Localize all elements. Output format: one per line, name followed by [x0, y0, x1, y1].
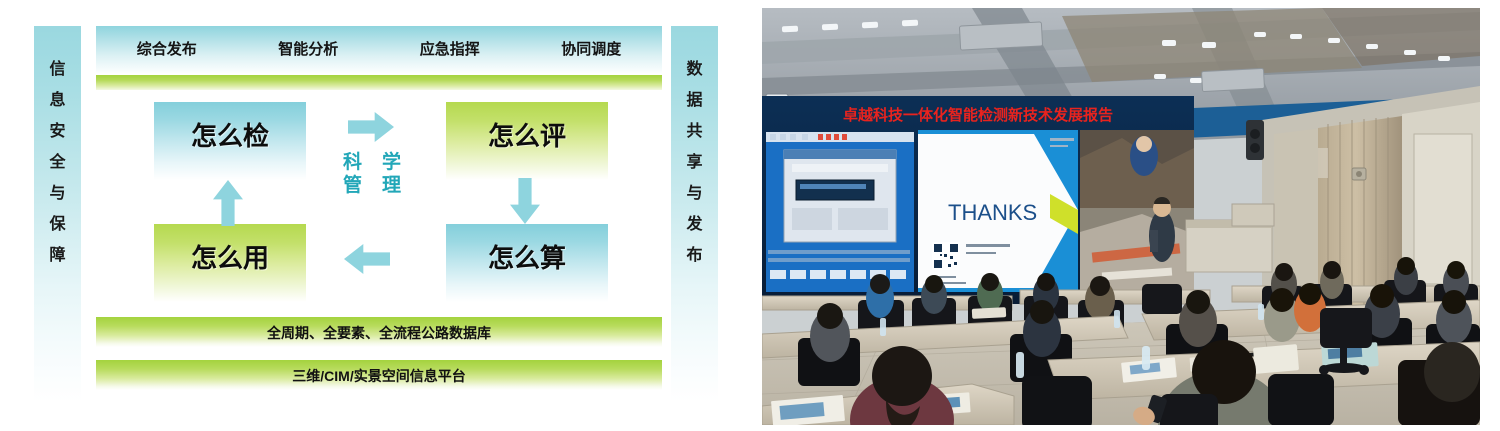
led-banner-text: 卓越科技一体化智能检测新技术发展报告 [843, 106, 1113, 124]
center-label-char-0: 科 [343, 152, 362, 174]
photo-canvas: 卓越科技一体化智能检测新技术发展报告 [762, 8, 1480, 425]
arrow-up-icon [213, 180, 243, 226]
sidebar-right-char-0: 数 [686, 62, 702, 78]
sidebar-left-information-security: 信 息 安 全 与 保 障 [34, 26, 81, 402]
process-box-how-to-use: 怎么用 [154, 224, 306, 302]
sidebar-right-char-5: 发 [686, 217, 702, 233]
framework-diagram: 信 息 安 全 与 保 障 数 据 共 享 与 发 布 [0, 0, 750, 431]
top-label-emergency-command: 应急指挥 [420, 38, 480, 59]
top-label-row: 综合发布 智能分析 应急指挥 协同调度 [96, 38, 662, 59]
sidebar-right-label: 数 据 共 享 与 发 布 [671, 62, 718, 264]
top-green-divider [96, 75, 662, 90]
center-label-char-2: 管 [343, 175, 362, 197]
process-box-how-to-inspect: 怎么检 [154, 102, 306, 180]
sidebar-left-char-4: 与 [49, 186, 65, 202]
sidebar-right-char-2: 共 [686, 124, 702, 140]
sidebar-right-char-6: 布 [686, 248, 702, 264]
sidebar-left-label: 信 息 安 全 与 保 障 [34, 62, 81, 264]
sidebar-left-char-3: 全 [49, 155, 65, 171]
sidebar-right-char-1: 据 [686, 93, 702, 109]
sidebar-left-char-2: 安 [49, 124, 65, 140]
bottom-bar-spatial-platform: 三维/CIM/实景空间信息平台 [96, 360, 662, 390]
bottom-bar-label: 三维/CIM/实景空间信息平台 [96, 366, 662, 386]
screenshot-root: 信 息 安 全 与 保 障 数 据 共 享 与 发 布 [0, 0, 1500, 431]
sidebar-right-char-4: 与 [686, 186, 702, 202]
arrow-left-icon [344, 244, 390, 274]
sidebar-left-char-5: 保 [49, 217, 65, 233]
sidebar-left-char-1: 息 [49, 93, 65, 109]
top-label-intelligent-analysis: 智能分析 [278, 38, 338, 59]
process-box-label: 怎么检 [191, 116, 269, 153]
center-label-char-3: 理 [382, 175, 401, 197]
arrow-down-icon [510, 178, 540, 224]
center-label-scientific-management: 科 学 管 理 [334, 152, 410, 197]
process-box-label: 怎么算 [488, 238, 566, 275]
sidebar-right-char-3: 享 [686, 155, 702, 171]
process-box-label: 怎么用 [191, 238, 269, 275]
center-label-char-1: 学 [382, 152, 401, 174]
bottom-bar-highway-database: 全周期、全要素、全流程公路数据库 [96, 317, 662, 347]
process-box-how-to-evaluate: 怎么评 [446, 102, 608, 180]
seminar-room-photo: 会议室技术报告现场照片 [762, 8, 1480, 425]
diagram-board: 综合发布 智能分析 应急指挥 协同调度 怎么检 怎么评 怎么用 怎么算 [96, 26, 662, 402]
top-label-collaborative-dispatch: 协同调度 [561, 38, 621, 59]
arrow-right-icon [348, 112, 394, 142]
process-box-how-to-calculate: 怎么算 [446, 224, 608, 302]
slide-thanks-text: THANKS [948, 200, 1037, 225]
bottom-bar-label: 全周期、全要素、全流程公路数据库 [96, 323, 662, 343]
process-box-label: 怎么评 [488, 116, 566, 153]
sidebar-left-char-0: 信 [49, 62, 65, 78]
sidebar-right-data-sharing: 数 据 共 享 与 发 布 [671, 26, 718, 402]
diagram-frame: 信 息 安 全 与 保 障 数 据 共 享 与 发 布 [20, 12, 732, 416]
top-label-comprehensive-release: 综合发布 [137, 38, 197, 59]
sidebar-left-char-6: 障 [49, 248, 65, 264]
